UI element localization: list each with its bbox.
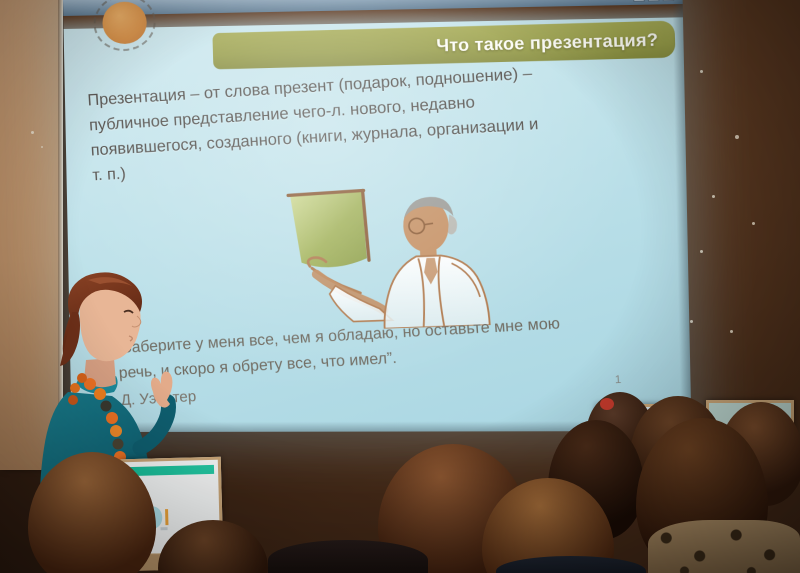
lecture-scene: Что такое презентация? Презентация – от … [0,0,800,573]
audience-shoulders [268,540,428,573]
light-speck [730,330,733,333]
slide-body: Презентация – от слова презент (подарок,… [87,53,673,189]
light-speck [31,131,34,134]
light-speck [700,70,703,73]
light-speck [700,250,703,253]
slide-page-number: 1 [614,374,621,387]
slide-title: Что такое презентация? [436,29,658,56]
minimize-button[interactable] [633,0,645,2]
slide-illustration [272,181,531,332]
light-speck [690,320,693,323]
light-speck [735,135,739,139]
illustration-svg [272,181,531,332]
hair-tie [600,398,614,410]
slide-body-text: Презентация – от слова презент (подарок,… [87,53,673,189]
light-speck [752,222,755,225]
audience-clothing-leopard [648,520,800,573]
maximize-button[interactable] [648,0,660,2]
decorative-circle [89,0,162,54]
laptop-screen-header [128,465,214,476]
light-speck [41,146,43,148]
light-speck [712,195,715,198]
window-controls[interactable] [633,0,674,2]
